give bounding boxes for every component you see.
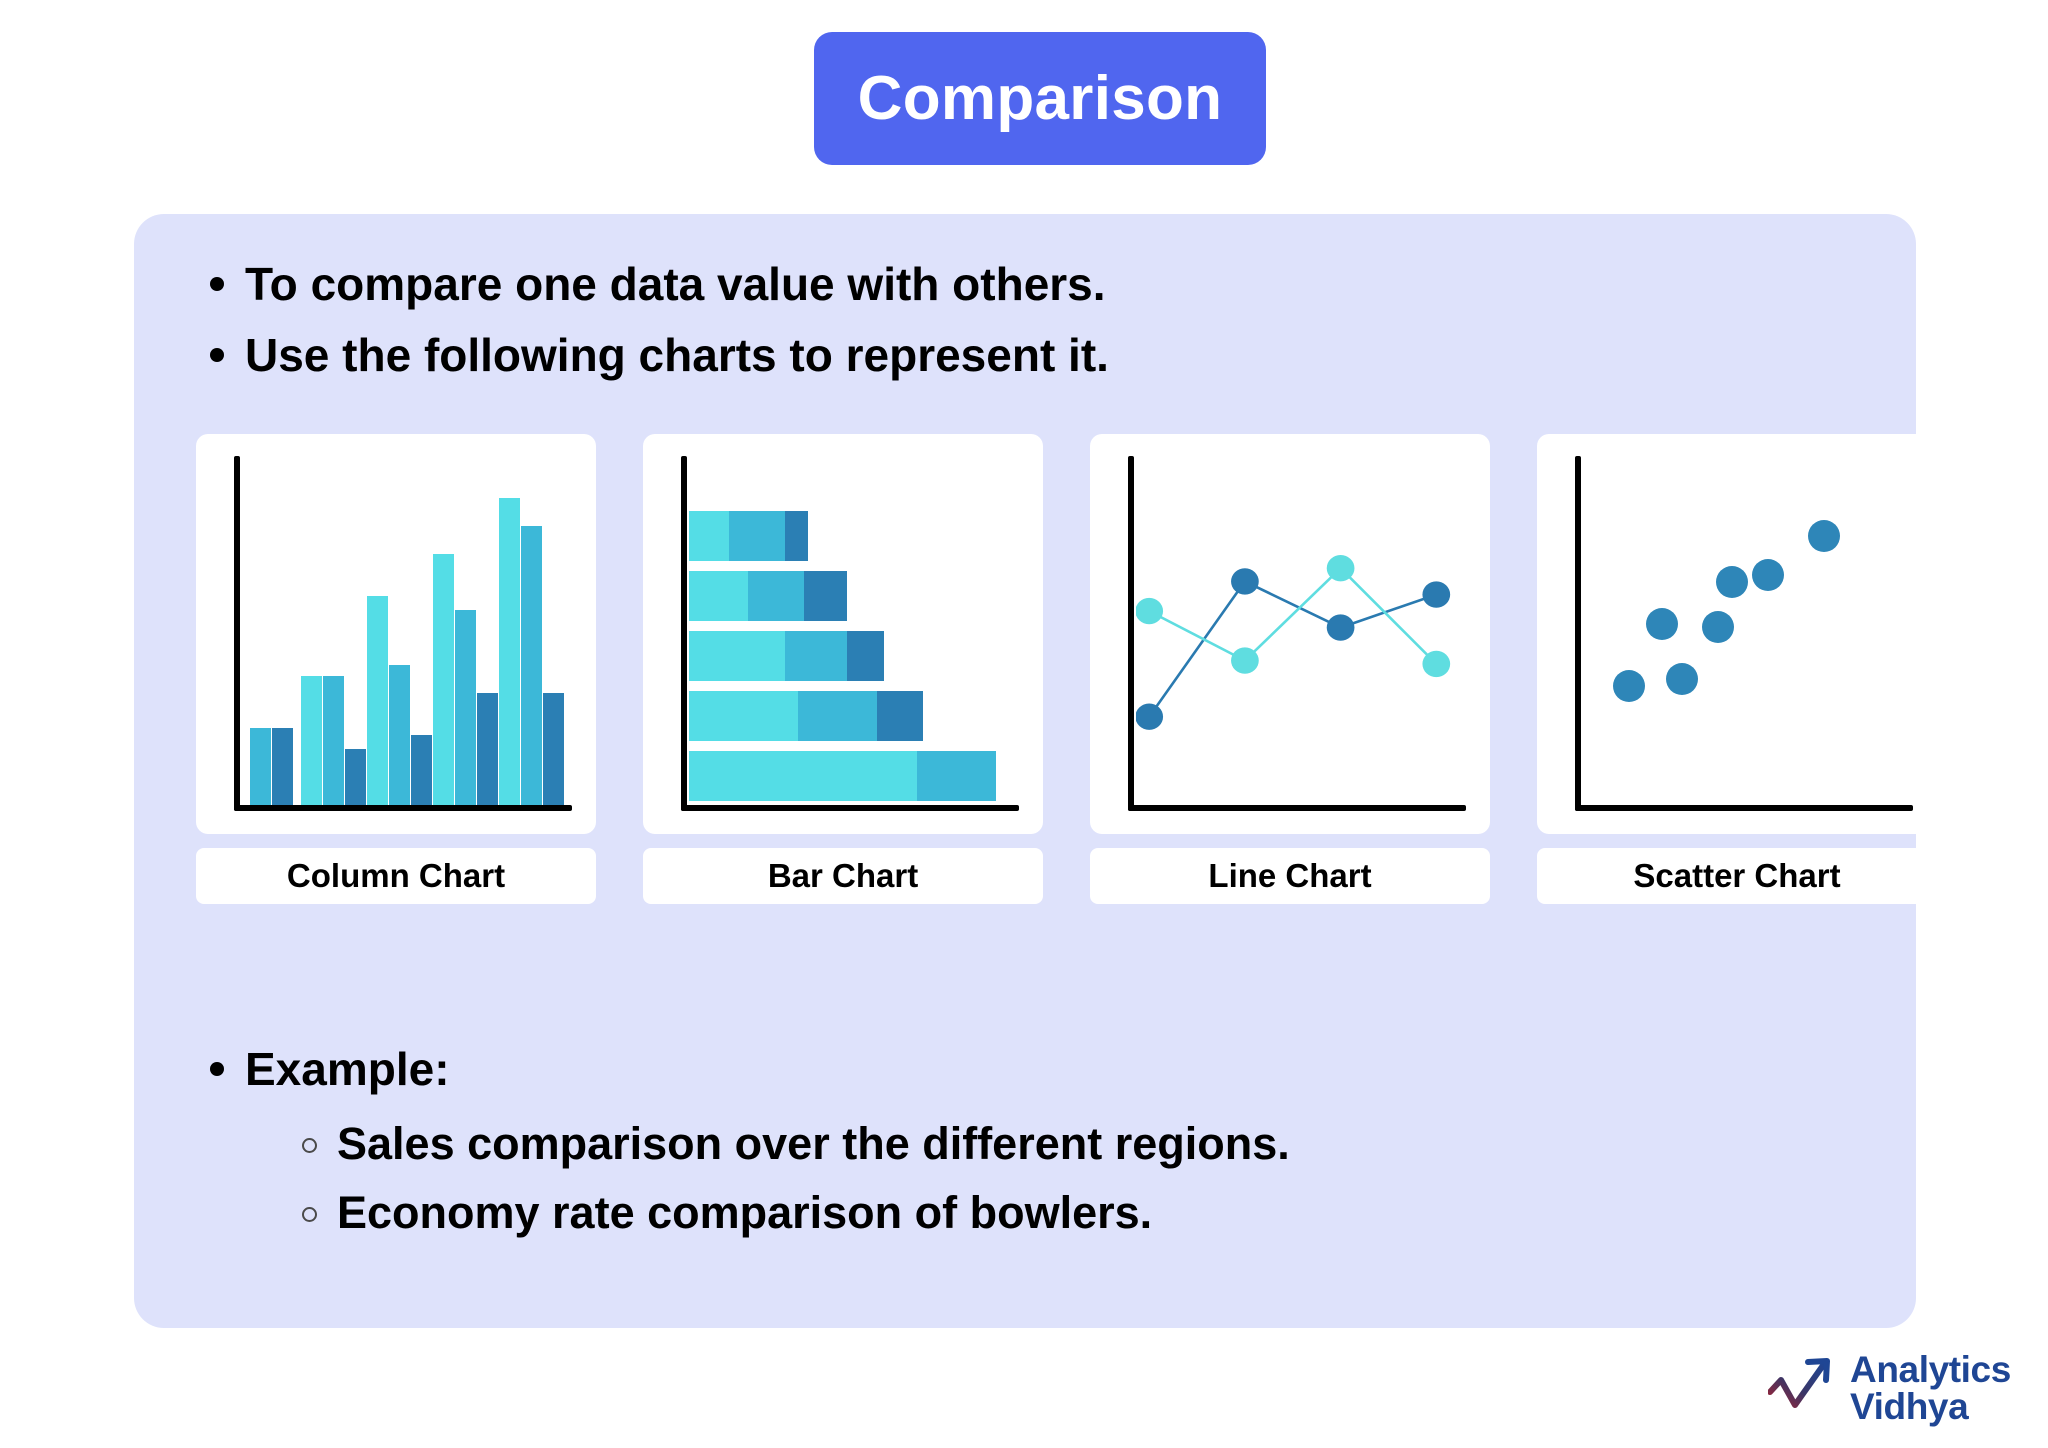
bar-segment bbox=[917, 751, 996, 801]
bar-segment bbox=[689, 511, 729, 561]
line-marker bbox=[1136, 598, 1163, 624]
bullet-text: Use the following charts to represent it… bbox=[245, 326, 1109, 385]
column-chart-card bbox=[196, 434, 596, 834]
column-group bbox=[366, 456, 432, 805]
bar-segment bbox=[785, 631, 848, 681]
page-title: Comparison bbox=[858, 68, 1223, 130]
column-group bbox=[242, 456, 300, 805]
column-group bbox=[498, 456, 564, 805]
example-heading-row: Example: bbox=[210, 1040, 1710, 1099]
bullet-dot-icon bbox=[210, 348, 224, 362]
x-axis bbox=[1575, 805, 1913, 811]
line-marker bbox=[1327, 555, 1355, 581]
example-item-text: Sales comparison over the different regi… bbox=[337, 1115, 1290, 1173]
slide-title-badge: Comparison bbox=[814, 32, 1266, 165]
list-item: Sales comparison over the different regi… bbox=[302, 1115, 1710, 1173]
scatter-point bbox=[1808, 520, 1840, 552]
bar-row bbox=[689, 691, 1019, 741]
bar-chart-plot bbox=[681, 456, 1019, 811]
scatter-point bbox=[1646, 608, 1678, 640]
column-bar-groups bbox=[242, 456, 564, 805]
example-section: Example: Sales comparison over the diffe… bbox=[210, 1040, 1710, 1254]
chart-card-scatter: Scatter Chart bbox=[1537, 434, 1937, 764]
bar-segment bbox=[877, 691, 923, 741]
column-bar bbox=[433, 554, 454, 805]
column-bar bbox=[521, 526, 542, 805]
scatter-chart-plot bbox=[1575, 456, 1913, 811]
chart-label-text: Column Chart bbox=[287, 857, 505, 895]
column-bar bbox=[367, 596, 388, 805]
line-marker bbox=[1422, 581, 1450, 607]
y-axis bbox=[1128, 456, 1134, 811]
x-axis bbox=[1128, 805, 1466, 811]
list-item: To compare one data value with others. bbox=[210, 255, 1710, 314]
chart-label-line: Line Chart bbox=[1090, 848, 1490, 904]
line-series bbox=[1149, 568, 1436, 664]
chart-label-bar: Bar Chart bbox=[643, 848, 1043, 904]
column-chart-plot bbox=[234, 456, 572, 811]
example-item-text: Economy rate comparison of bowlers. bbox=[337, 1184, 1152, 1242]
bar-row bbox=[689, 571, 1019, 621]
list-item: Economy rate comparison of bowlers. bbox=[302, 1184, 1710, 1242]
bullet-dot-icon bbox=[210, 277, 224, 291]
bar-chart-rows bbox=[689, 482, 1019, 801]
brand-logo: Analytics Vidhya bbox=[1768, 1336, 2028, 1440]
chart-card-line: Line Chart bbox=[1090, 434, 1490, 764]
hollow-bullet-icon bbox=[302, 1207, 317, 1222]
line-marker bbox=[1136, 704, 1163, 730]
example-item-list: Sales comparison over the different regi… bbox=[302, 1115, 1710, 1242]
bar-chart-card bbox=[643, 434, 1043, 834]
column-bar bbox=[345, 749, 366, 805]
y-axis bbox=[1575, 456, 1581, 811]
chart-label-text: Line Chart bbox=[1208, 857, 1371, 895]
scatter-point bbox=[1613, 670, 1645, 702]
column-group bbox=[432, 456, 498, 805]
intro-bullet-list: To compare one data value with others. U… bbox=[210, 255, 1710, 397]
chart-card-column: Column Chart bbox=[196, 434, 596, 764]
logo-line-2: Vidhya bbox=[1850, 1388, 2011, 1425]
bar-segment bbox=[689, 751, 917, 801]
chart-label-scatter: Scatter Chart bbox=[1537, 848, 1937, 904]
plot-area bbox=[689, 456, 1019, 805]
scatter-chart-card bbox=[1537, 434, 1937, 834]
line-marker bbox=[1422, 651, 1450, 677]
line-chart-card bbox=[1090, 434, 1490, 834]
x-axis bbox=[234, 805, 572, 811]
growth-arrow-icon bbox=[1768, 1352, 1844, 1424]
bar-segment bbox=[689, 631, 785, 681]
chart-label-text: Scatter Chart bbox=[1633, 857, 1840, 895]
slide-root: Comparison To compare one data value wit… bbox=[0, 0, 2048, 1448]
logo-wordmark: Analytics Vidhya bbox=[1850, 1351, 2011, 1425]
bar-segment bbox=[798, 691, 877, 741]
line-chart-plot bbox=[1128, 456, 1466, 811]
list-item: Use the following charts to represent it… bbox=[210, 326, 1710, 385]
column-bar bbox=[250, 728, 271, 805]
column-bar bbox=[272, 728, 293, 805]
chart-label-text: Bar Chart bbox=[768, 857, 918, 895]
bar-segment bbox=[785, 511, 808, 561]
column-bar bbox=[499, 498, 520, 805]
chart-label-column: Column Chart bbox=[196, 848, 596, 904]
bar-row bbox=[689, 631, 1019, 681]
logo-line-1: Analytics bbox=[1850, 1351, 2011, 1388]
scatter-points-layer bbox=[1583, 456, 1913, 805]
scatter-point bbox=[1716, 566, 1748, 598]
column-bar bbox=[543, 693, 564, 805]
column-bar bbox=[323, 676, 344, 805]
y-axis bbox=[681, 456, 687, 811]
column-bar bbox=[477, 693, 498, 805]
line-chart-svg bbox=[1136, 456, 1466, 786]
y-axis bbox=[234, 456, 240, 811]
hollow-bullet-icon bbox=[302, 1138, 317, 1153]
chart-card-bar: Bar Chart bbox=[643, 434, 1043, 764]
scatter-point bbox=[1702, 611, 1734, 643]
column-bar bbox=[301, 676, 322, 805]
line-series bbox=[1149, 581, 1436, 716]
plot-area bbox=[1583, 456, 1913, 805]
bar-segment bbox=[689, 691, 798, 741]
line-marker bbox=[1231, 647, 1259, 673]
bar-segment bbox=[748, 571, 804, 621]
line-marker bbox=[1327, 614, 1355, 640]
bullet-text: To compare one data value with others. bbox=[245, 255, 1106, 314]
bullet-dot-icon bbox=[210, 1062, 224, 1076]
scatter-point bbox=[1666, 663, 1698, 695]
plot-area bbox=[1136, 456, 1466, 805]
x-axis bbox=[681, 805, 1019, 811]
scatter-point bbox=[1752, 559, 1784, 591]
chart-card-row: Column Chart Bar Chart bbox=[196, 434, 1938, 764]
bar-segment bbox=[847, 631, 883, 681]
line-marker bbox=[1231, 568, 1259, 594]
bar-segment bbox=[804, 571, 847, 621]
bar-row bbox=[689, 511, 1019, 561]
plot-area bbox=[242, 456, 572, 805]
column-bar bbox=[455, 610, 476, 805]
bar-segment bbox=[729, 511, 785, 561]
bar-segment bbox=[689, 571, 748, 621]
bar-row bbox=[689, 751, 1019, 801]
column-bar bbox=[389, 665, 410, 805]
column-bar bbox=[411, 735, 432, 805]
example-heading: Example: bbox=[245, 1040, 450, 1099]
column-group bbox=[300, 456, 366, 805]
